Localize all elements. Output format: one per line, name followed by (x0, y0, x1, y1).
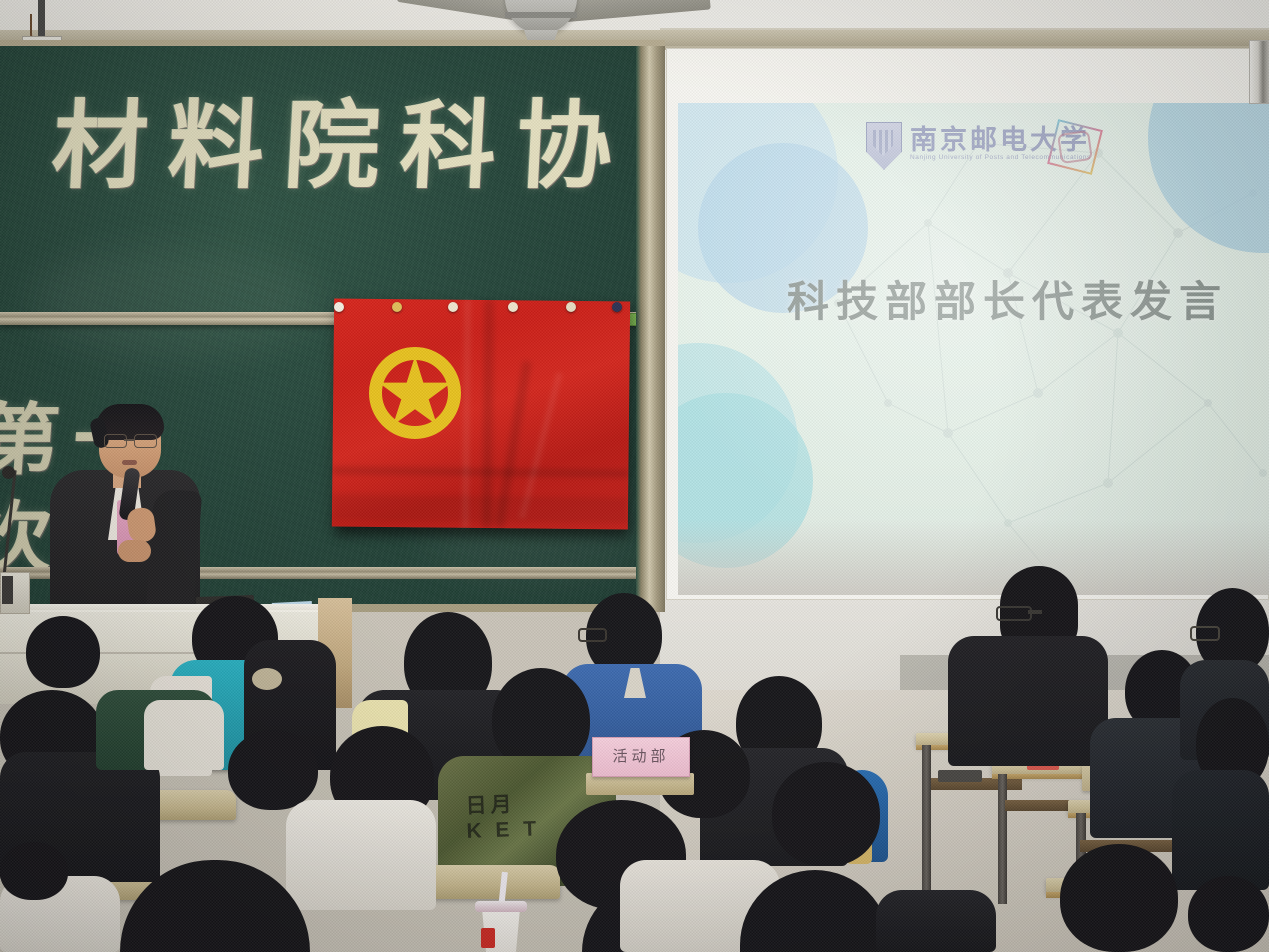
desk-item-bag (938, 770, 982, 782)
flag-pin-icon (612, 302, 622, 312)
podium-equipment-screen (2, 576, 13, 604)
audience-torso (1172, 770, 1269, 890)
desk-leg (922, 745, 931, 893)
slide-title: 科技部部长代表发言 (787, 268, 1257, 329)
audience-head (0, 842, 68, 900)
chalk-smudge (30, 246, 320, 356)
flag-pin-icon (334, 302, 344, 312)
wall-bracket (1249, 40, 1269, 104)
hair-accessory-icon (252, 668, 282, 690)
projection-screen (678, 103, 1269, 595)
blackboard-right-edge (636, 46, 665, 612)
flag-pin-icon (566, 302, 576, 312)
jacket-text-line1: 日月 (465, 790, 576, 819)
speaker-hand-lower (118, 540, 151, 562)
audience-head (228, 730, 318, 810)
audience-head (26, 616, 100, 688)
audience-torso-white (144, 700, 224, 770)
audience-head (1188, 876, 1269, 952)
audience-head (772, 762, 880, 866)
flag-pin-icon (448, 302, 458, 312)
audience-torso-white (286, 800, 436, 910)
eyeglasses-icon (578, 628, 607, 642)
fan-hub-ring (505, 12, 577, 18)
classroom-photo: 材料院科协 第一次 大会 (0, 0, 1269, 952)
speaker-mouth (122, 460, 137, 465)
cup-logo-icon (481, 928, 495, 948)
eyeglasses-temple-icon (1028, 610, 1042, 614)
flag-pin-icon (508, 302, 518, 312)
eyeglasses-bridge-icon (124, 439, 135, 441)
department-sign-label: 活动部 (593, 745, 689, 766)
eyeglasses-icon (134, 434, 157, 448)
desk-leg (998, 774, 1007, 904)
eyeglasses-icon (1190, 626, 1220, 641)
audience-torso (876, 890, 996, 952)
department-sign: 活动部 (592, 737, 690, 777)
audience-head (1060, 844, 1178, 952)
cup-lid-icon (475, 901, 527, 912)
speaker-arm (146, 488, 202, 611)
blackboard-headline: 材料院科协 (49, 82, 616, 212)
eyeglasses-icon (104, 434, 127, 448)
audience-torso (948, 636, 1108, 766)
eyeglasses-icon (996, 606, 1032, 621)
diamond-emblem-inner-icon (1057, 130, 1093, 164)
flag-pin-icon (392, 302, 402, 312)
microphone-head-icon (2, 466, 15, 479)
university-logo: 南京邮电大学 Nanjing University of Posts and T… (866, 116, 1096, 174)
